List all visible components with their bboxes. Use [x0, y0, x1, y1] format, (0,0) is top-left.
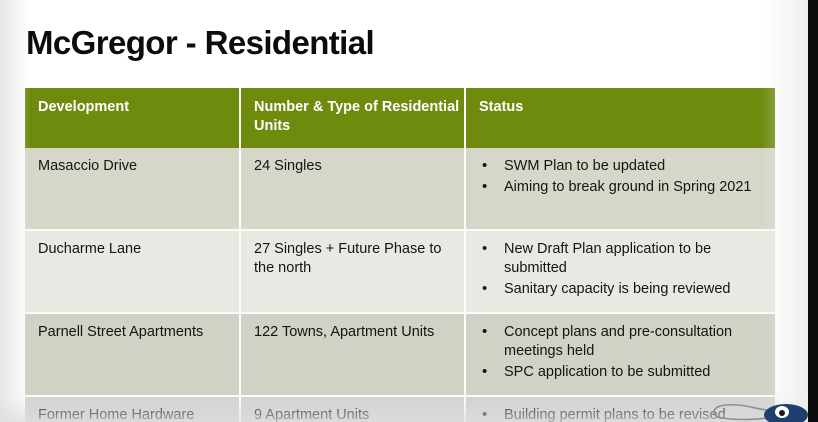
cell-units: 9 Apartment Units [240, 396, 465, 422]
column-header-development: Development [25, 88, 240, 148]
cell-status: New Draft Plan application to be submitt… [465, 230, 775, 313]
table-header-row: Development Number & Type of Residential… [25, 88, 775, 148]
cell-units: 122 Towns, Apartment Units [240, 313, 465, 396]
table-body: Masaccio Drive 24 Singles SWM Plan to be… [25, 148, 775, 422]
cell-status: Concept plans and pre-consultation meeti… [465, 313, 775, 396]
table-row: Masaccio Drive 24 Singles SWM Plan to be… [25, 148, 775, 230]
partial-logo-graphic [710, 396, 808, 422]
cell-development: Parnell Street Apartments [25, 313, 240, 396]
status-bullet-list: Concept plans and pre-consultation meeti… [479, 323, 767, 382]
list-item: Concept plans and pre-consultation meeti… [479, 323, 767, 361]
cell-development: Masaccio Drive [25, 148, 240, 230]
table-row: Parnell Street Apartments 122 Towns, Apa… [25, 313, 775, 396]
status-bullet-list: New Draft Plan application to be submitt… [479, 240, 767, 299]
presentation-slide: McGregor - Residential Development Numbe… [0, 0, 818, 422]
cell-development: Ducharme Lane [25, 230, 240, 313]
list-item: New Draft Plan application to be submitt… [479, 240, 767, 278]
list-item: SWM Plan to be updated [479, 157, 767, 176]
page-title: McGregor - Residential [26, 24, 374, 62]
slide-header-decoration [0, 0, 818, 26]
list-item: Aiming to break ground in Spring 2021 [479, 178, 767, 197]
table-header: Development Number & Type of Residential… [25, 88, 775, 148]
table: Development Number & Type of Residential… [25, 88, 775, 422]
list-item: Sanitary capacity is being reviewed [479, 280, 767, 299]
cell-units: 24 Singles [240, 148, 465, 230]
column-header-status: Status [465, 88, 775, 148]
column-header-units: Number & Type of Residential Units [240, 88, 465, 148]
residential-development-table: Development Number & Type of Residential… [25, 88, 775, 422]
table-row: Former Home Hardware 9 Apartment Units B… [25, 396, 775, 422]
video-letterbox-bar [808, 0, 818, 422]
table-row: Ducharme Lane 27 Singles + Future Phase … [25, 230, 775, 313]
status-bullet-list: SWM Plan to be updated Aiming to break g… [479, 157, 767, 197]
cell-status: SWM Plan to be updated Aiming to break g… [465, 148, 775, 230]
cell-units: 27 Singles + Future Phase to the north [240, 230, 465, 313]
list-item: SPC application to be submitted [479, 363, 767, 382]
cell-development: Former Home Hardware [25, 396, 240, 422]
